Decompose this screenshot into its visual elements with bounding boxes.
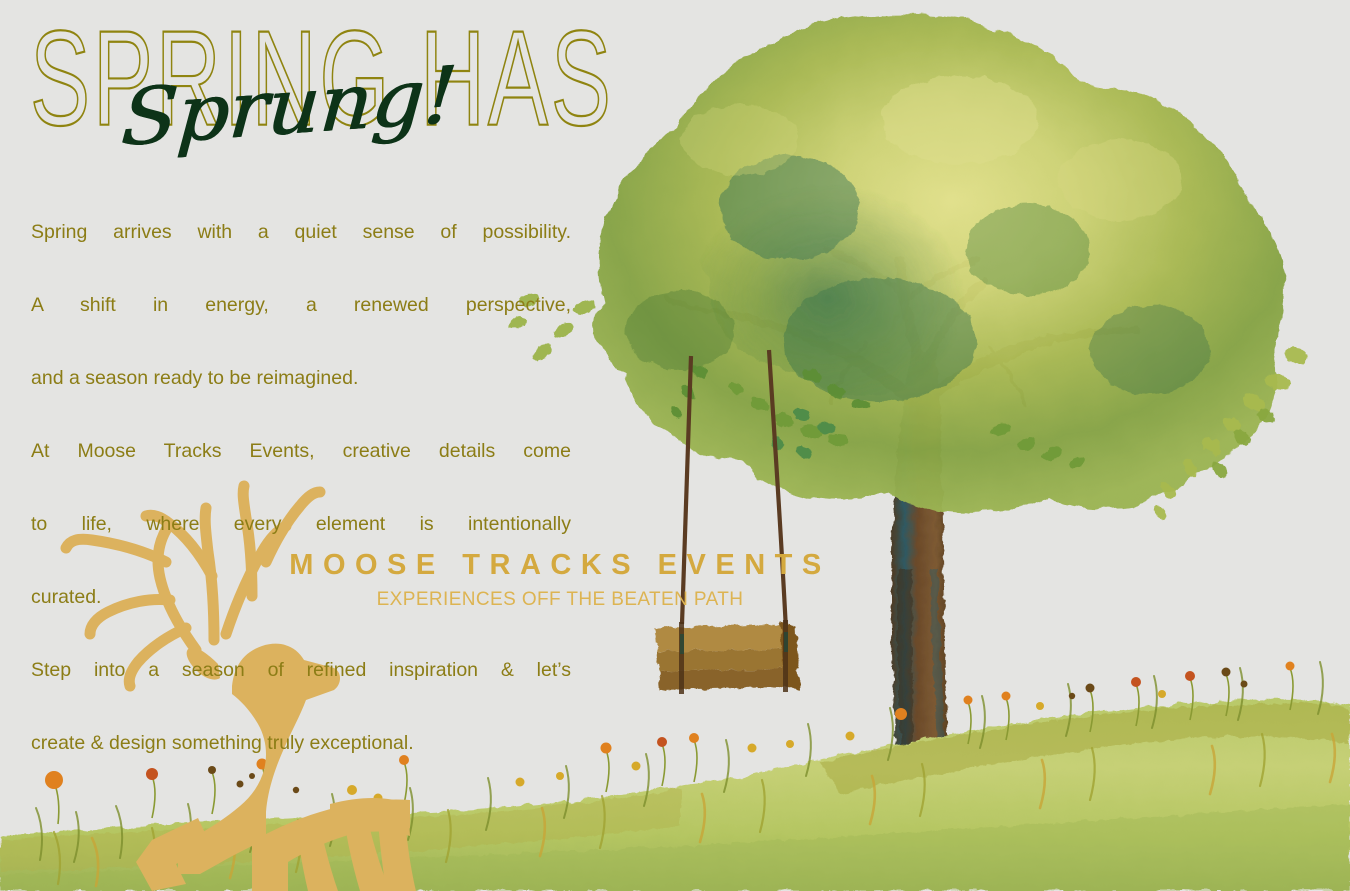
tree-canopy [508,13,1309,522]
brand-lockup: MOOSE TRACKS EVENTS EXPERIENCES OFF THE … [270,548,850,611]
body-line: Spring arrives with a quiet sense of pos… [31,214,571,287]
brand-name: MOOSE TRACKS EVENTS [270,548,850,582]
brand-tagline: EXPERIENCES OFF THE BEATEN PATH [270,589,850,611]
body-line: and a season ready to be reimagined. [31,360,571,433]
poster-canvas: SPRING HAS Sprung! Spring arrives with a… [0,0,1350,891]
body-line: create & design something truly exceptio… [31,725,571,798]
body-copy: Spring arrives with a quiet sense of pos… [31,214,571,798]
headline-block: SPRING HAS Sprung! [30,6,550,181]
body-line: A shift in energy, a renewed perspective… [31,287,571,360]
body-line: At Moose Tracks Events, creative details… [31,433,571,506]
tree-trunk [891,352,954,815]
body-line: Step into a season of refined inspiratio… [31,652,571,725]
tree-branches [666,250,1138,406]
headline-script-accent: Sprung! [119,56,459,158]
tree-swing [655,350,800,694]
